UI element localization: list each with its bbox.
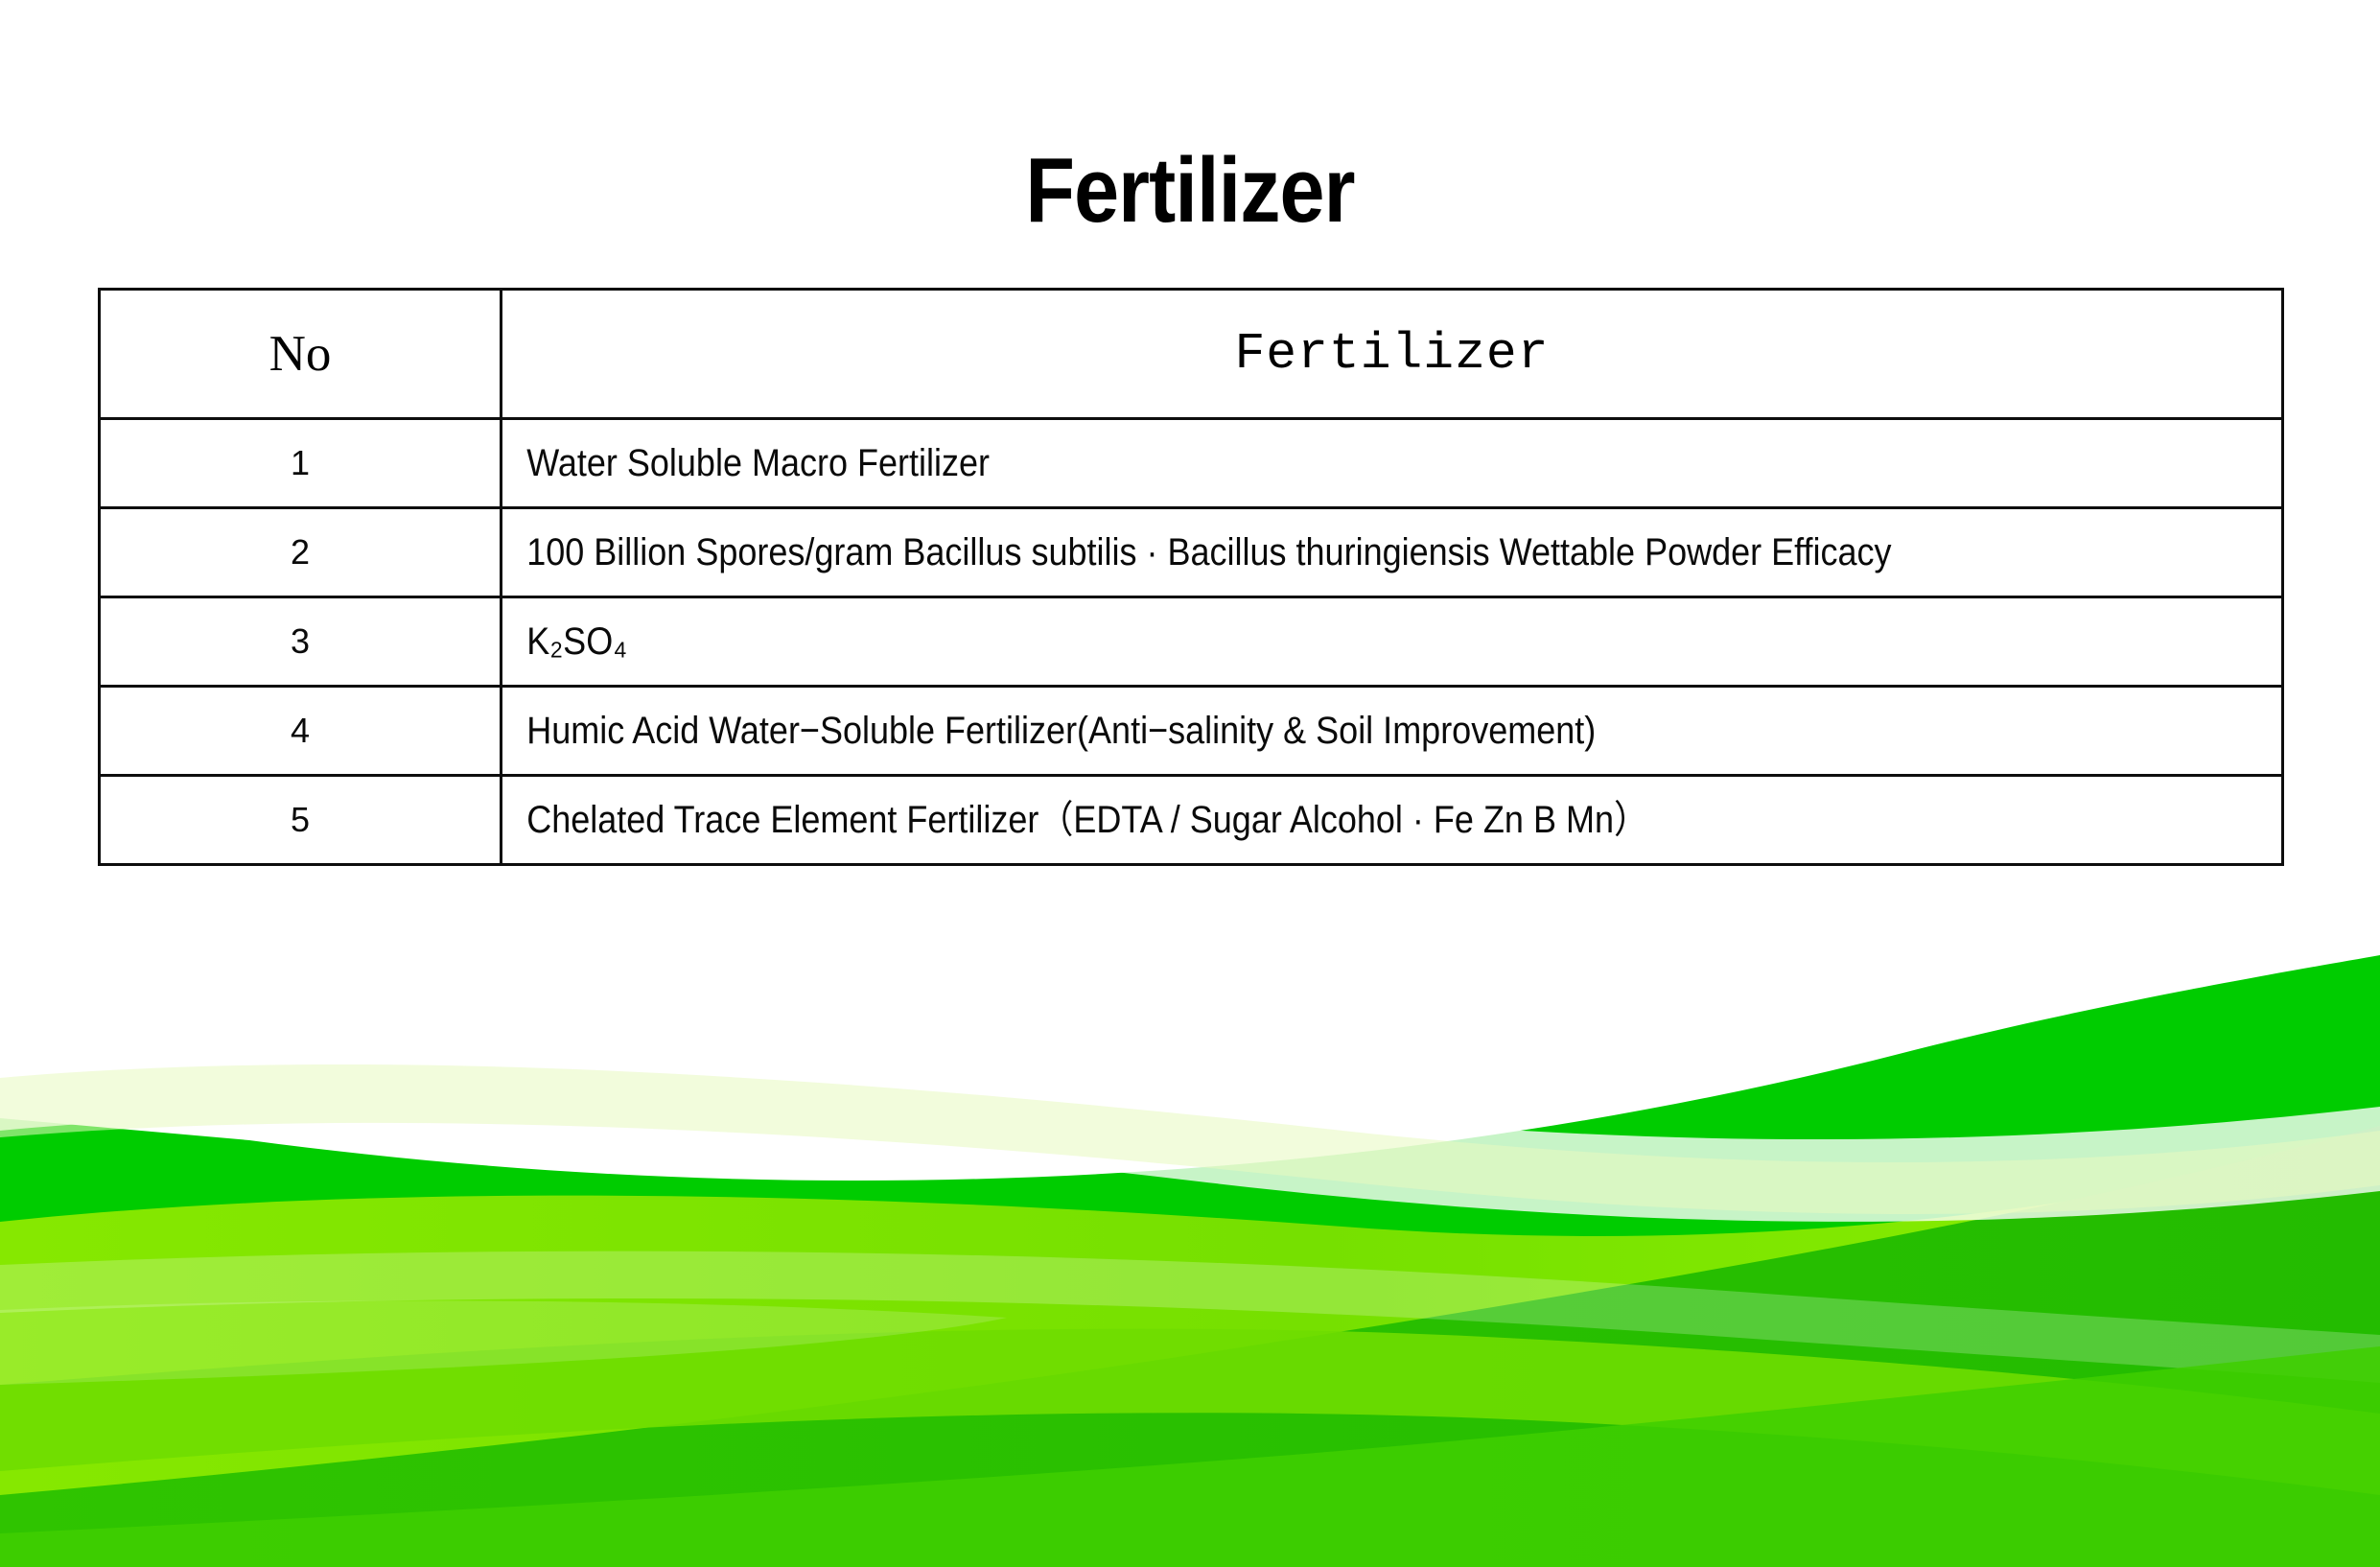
fertilizer-name: Water Soluble Macro Fertilizer: [502, 444, 990, 482]
fertilizer-name: K₂SO₄: [502, 622, 627, 661]
cell-no: 5: [100, 776, 502, 865]
fertilizer-table-container: No Fertilizer 1 Water Soluble Macro Fert…: [98, 288, 2281, 866]
row-number: 1: [291, 443, 310, 482]
wave-layer-white-swoosh: [0, 1036, 2380, 1222]
wave-layer-bright-green: [0, 955, 2380, 1567]
table-row: 4 Humic Acid Water−Soluble Fertilizer(An…: [100, 687, 2283, 776]
cell-no: 4: [100, 687, 502, 776]
cell-no: 3: [100, 597, 502, 687]
page-title: Fertilizer: [143, 137, 2237, 245]
wave-layer-yellow-green: [0, 1140, 2380, 1567]
cell-fertilizer: Chelated Trace Element Fertilizer（EDTA /…: [502, 776, 2283, 865]
cell-fertilizer: Humic Acid Water−Soluble Fertilizer(Anti…: [502, 687, 2283, 776]
fertilizer-name: Humic Acid Water−Soluble Fertilizer(Anti…: [502, 712, 1596, 750]
fertilizer-name: 100 Billion Spores/gram Bacillus subtili…: [502, 533, 1892, 572]
column-header-fertilizer-label: Fertilizer: [1234, 325, 1549, 383]
row-number: 5: [291, 800, 310, 839]
wave-layer-light-sweep: [0, 1329, 2380, 1495]
column-header-fertilizer: Fertilizer: [502, 290, 2283, 419]
table-header: No Fertilizer: [100, 290, 2283, 419]
wave-layer-highlight-band: [0, 1251, 2380, 1383]
fertilizer-table: No Fertilizer 1 Water Soluble Macro Fert…: [98, 288, 2284, 866]
row-number: 3: [291, 621, 310, 661]
table-row: 2 100 Billion Spores/gram Bacillus subti…: [100, 508, 2283, 597]
table-row: 5 Chelated Trace Element Fertilizer（EDTA…: [100, 776, 2283, 865]
row-number: 2: [291, 532, 310, 572]
wave-layer-left-light-wedge: [0, 1300, 1007, 1385]
cell-fertilizer: K₂SO₄: [502, 597, 2283, 687]
wave-layer-pale-haze: [0, 1064, 2380, 1214]
cell-no: 2: [100, 508, 502, 597]
row-number: 4: [291, 711, 310, 750]
cell-fertilizer: 100 Billion Spores/gram Bacillus subtili…: [502, 508, 2283, 597]
column-header-no: No: [100, 290, 502, 419]
cell-no: 1: [100, 419, 502, 508]
cell-fertilizer: Water Soluble Macro Fertilizer: [502, 419, 2283, 508]
table-row: 3 K₂SO₄: [100, 597, 2283, 687]
column-header-no-label: No: [269, 326, 332, 382]
table-body: 1 Water Soluble Macro Fertilizer 2 100 B…: [100, 419, 2283, 865]
fertilizer-name: Chelated Trace Element Fertilizer（EDTA /…: [502, 801, 1648, 839]
wave-layer-deep-green: [0, 1126, 2380, 1567]
table-header-row: No Fertilizer: [100, 290, 2283, 419]
table-row: 1 Water Soluble Macro Fertilizer: [100, 419, 2283, 508]
green-wave-decoration: [0, 934, 2380, 1567]
wave-layer-bottom-accent: [0, 1346, 2380, 1567]
